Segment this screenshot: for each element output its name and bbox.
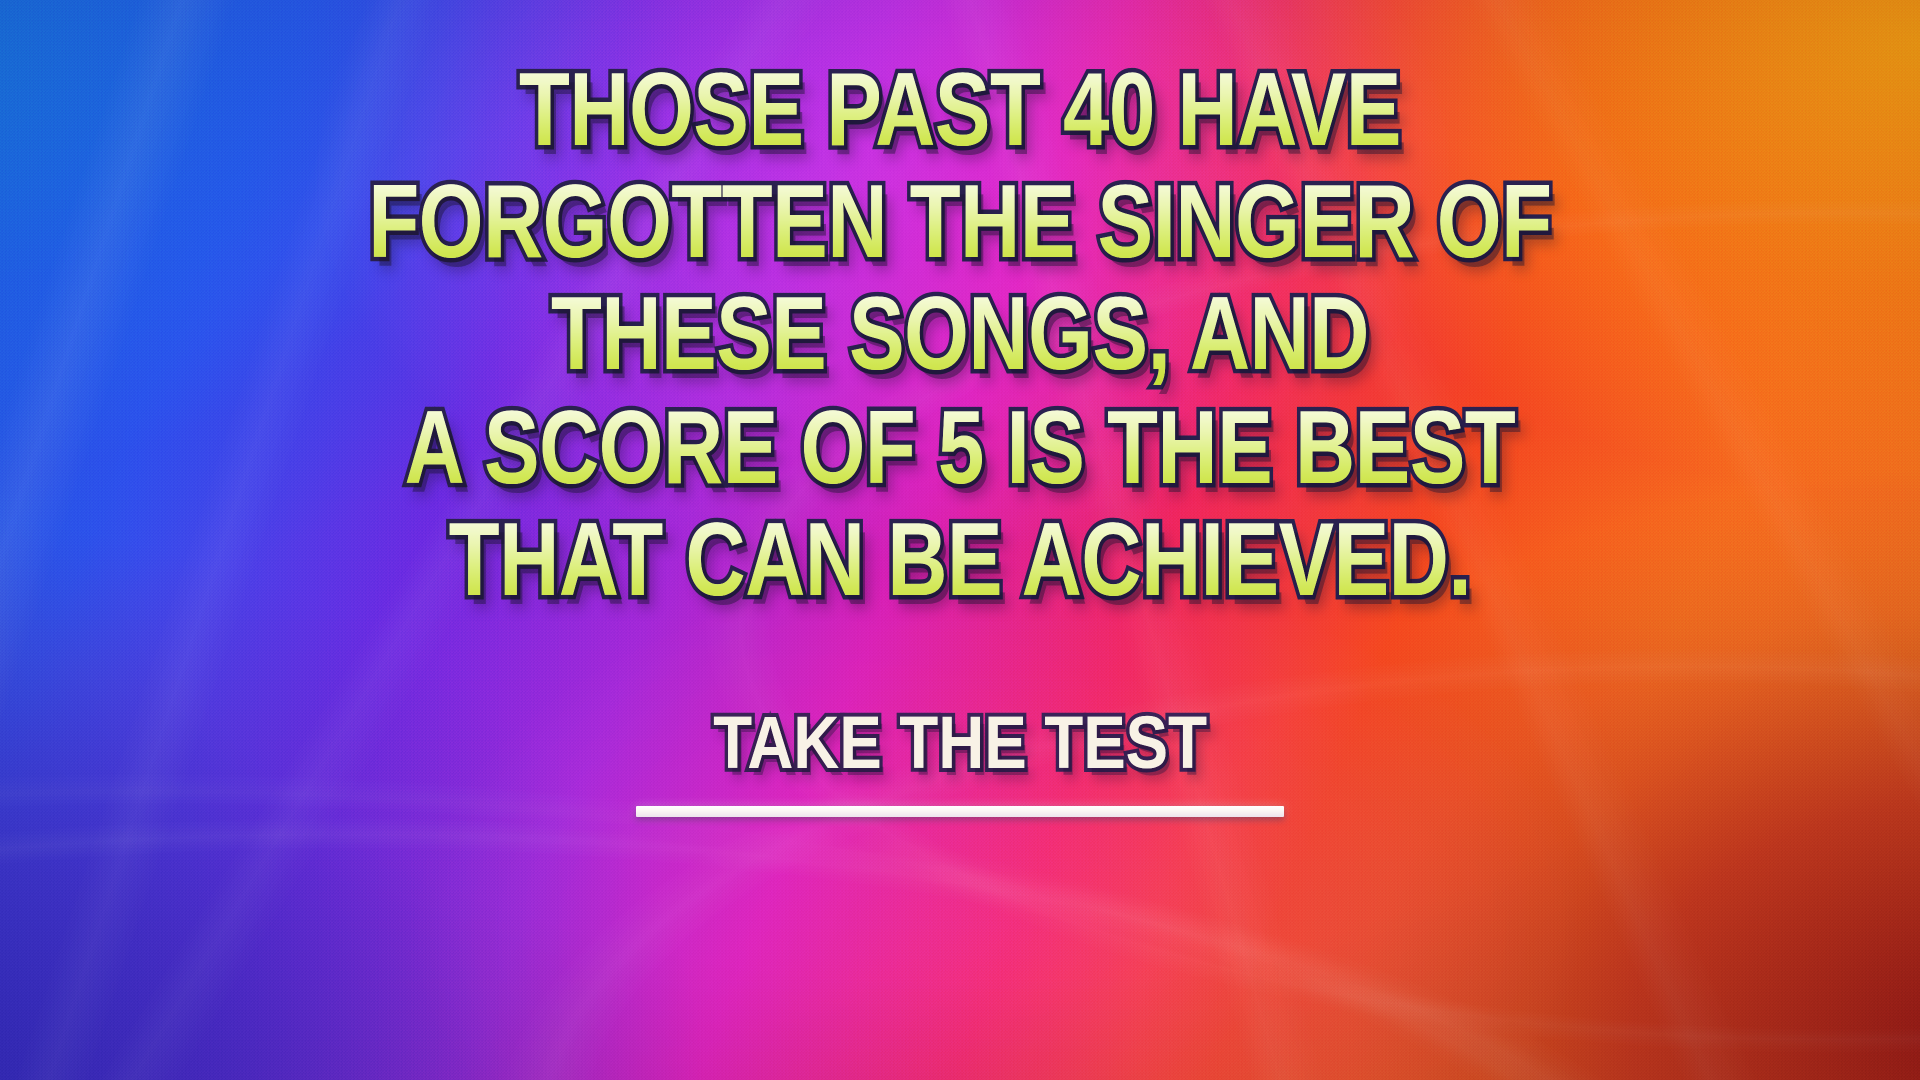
- take-the-test-label[interactable]: TAKE THE TESTTAKE THE TEST: [713, 706, 1207, 780]
- headline-line-5: THAT CAN BE ACHIEVED.THAT CAN BE ACHIEVE…: [192, 508, 1728, 612]
- headline-line-4: A SCORE OF 5 IS THE BESTA SCORE OF 5 IS …: [192, 396, 1728, 500]
- headline-line-1: THOSE PAST 40 HAVETHOSE PAST 40 HAVE: [192, 58, 1728, 162]
- card-content: THOSE PAST 40 HAVETHOSE PAST 40 HAVE FOR…: [0, 0, 1920, 1080]
- take-the-test-label-fill: TAKE THE TEST: [713, 706, 1207, 780]
- headline-line-5-fill: THAT CAN BE ACHIEVED.: [192, 508, 1728, 612]
- take-the-test-button[interactable]: TAKE THE TESTTAKE THE TEST: [636, 706, 1284, 817]
- promo-card: THOSE PAST 40 HAVETHOSE PAST 40 HAVE FOR…: [0, 0, 1920, 1080]
- headline-line-2: FORGOTTEN THE SINGER OFFORGOTTEN THE SIN…: [192, 170, 1728, 274]
- headline-line-3: THESE SONGS, ANDTHESE SONGS, AND: [192, 282, 1728, 386]
- headline-line-4-fill: A SCORE OF 5 IS THE BEST: [192, 396, 1728, 500]
- take-the-test-underline: [636, 806, 1284, 817]
- headline-line-2-fill: FORGOTTEN THE SINGER OF: [192, 170, 1728, 274]
- headline-block: THOSE PAST 40 HAVETHOSE PAST 40 HAVE FOR…: [0, 0, 1920, 612]
- headline-line-1-fill: THOSE PAST 40 HAVE: [192, 58, 1728, 162]
- headline-line-3-fill: THESE SONGS, AND: [192, 282, 1728, 386]
